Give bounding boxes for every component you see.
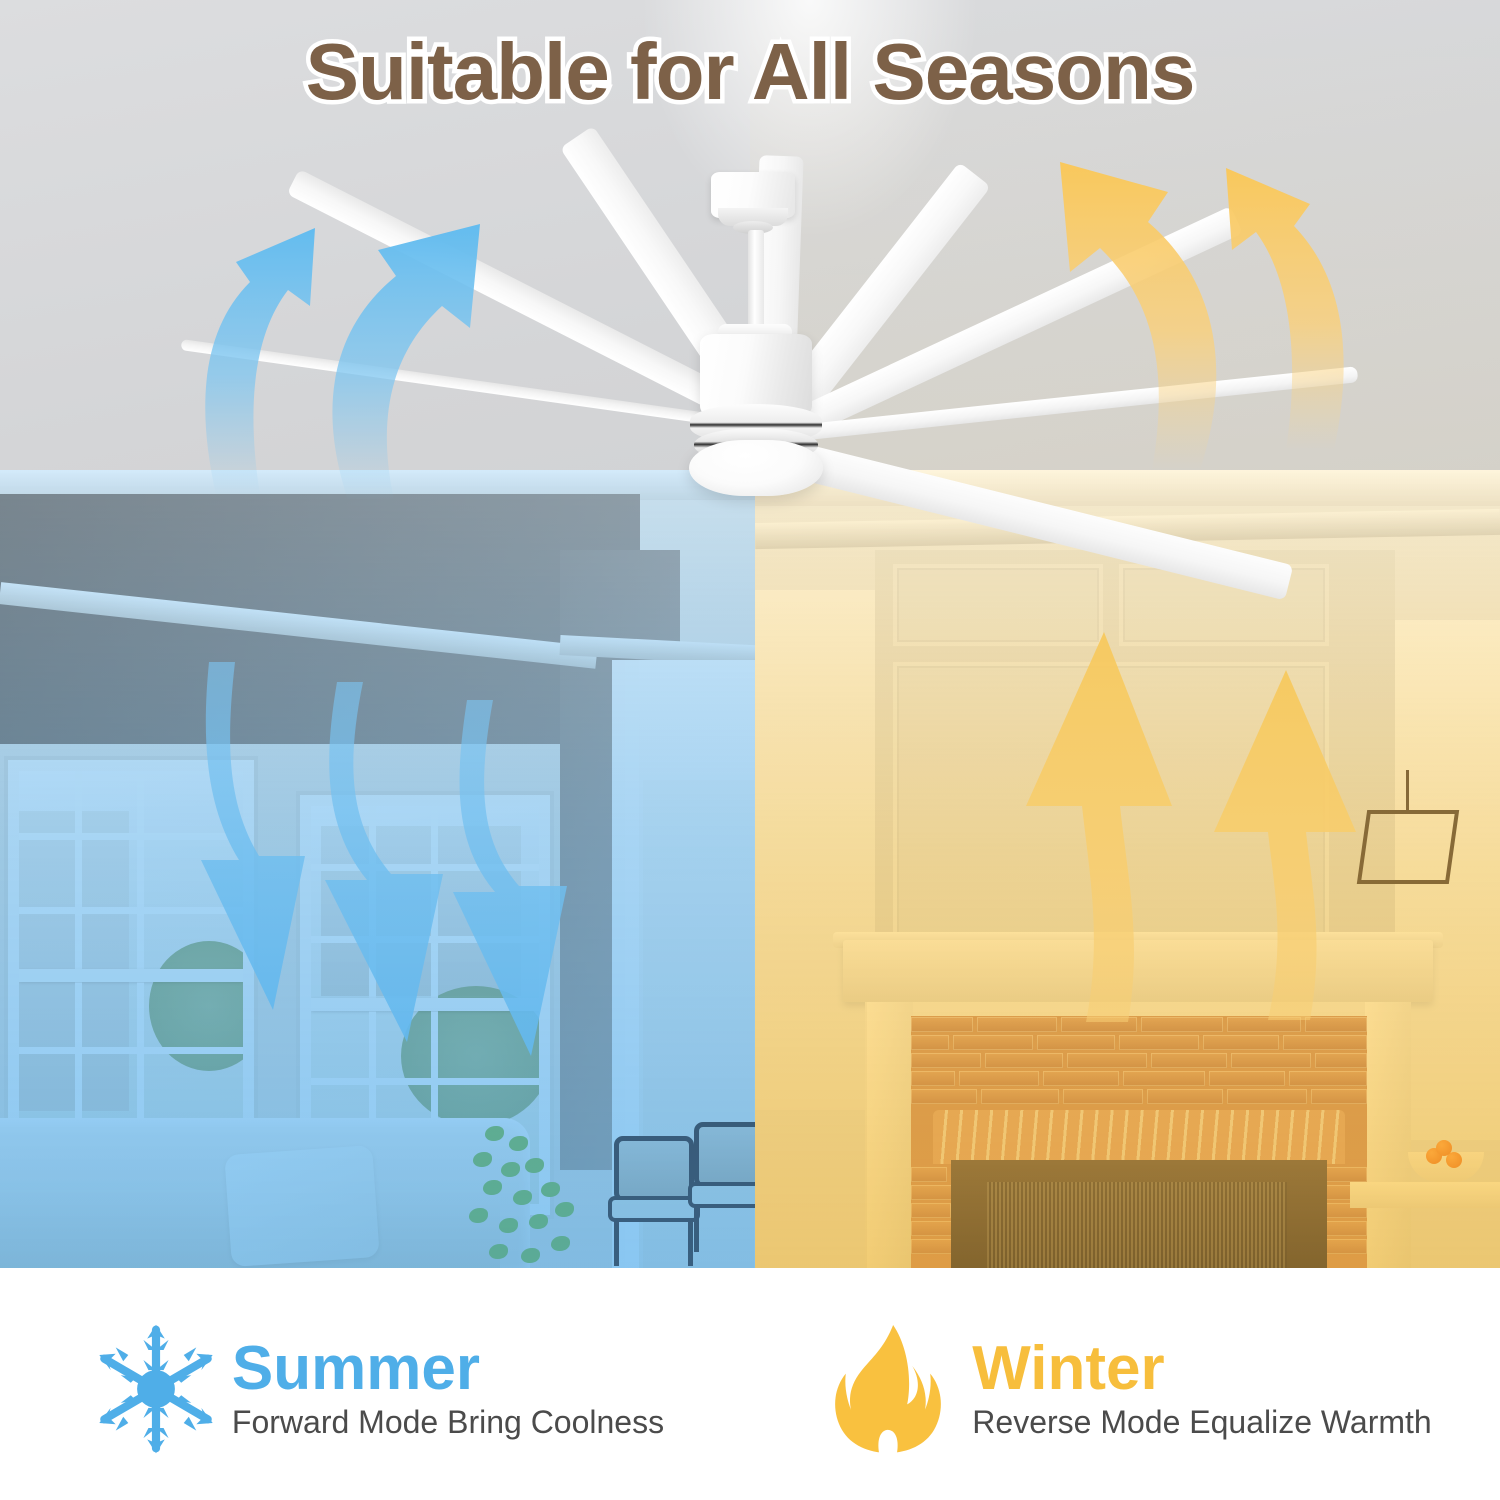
feature-subtitle: Reverse Mode Equalize Warmth	[972, 1403, 1431, 1441]
hero-scene: Suitable for All Seasons	[0, 0, 1500, 1268]
feature-winter: Winter Reverse Mode Equalize Warmth	[750, 1268, 1500, 1500]
feature-title: Winter	[972, 1337, 1431, 1401]
warm-arrow-up	[1214, 670, 1356, 1020]
feature-subtitle: Forward Mode Bring Coolness	[232, 1403, 664, 1441]
cool-ceiling-arrows	[180, 210, 570, 510]
cool-arrow-down	[325, 682, 443, 1042]
feature-summer: Summer Forward Mode Bring Coolness	[0, 1268, 750, 1500]
fan-led-light	[689, 440, 823, 496]
warm-arrow	[1060, 162, 1216, 470]
warm-arrow-up	[1026, 632, 1172, 1022]
feature-bar: Summer Forward Mode Bring Coolness Winte…	[0, 1268, 1500, 1500]
warm-arrow	[1226, 168, 1344, 450]
cool-arrow-down	[453, 700, 567, 1056]
cool-down-arrows	[195, 660, 605, 1090]
cool-arrow	[332, 224, 480, 500]
cool-arrow	[205, 228, 315, 495]
snowflake-icon	[86, 1314, 226, 1464]
feature-title: Summer	[232, 1337, 664, 1401]
infographic-canvas: Suitable for All Seasons	[0, 0, 1500, 1500]
flame-icon	[818, 1314, 958, 1464]
cool-arrow-down	[201, 662, 305, 1010]
warm-ceiling-arrows	[1000, 150, 1360, 480]
fan-downrod	[748, 230, 764, 334]
warm-up-arrows	[1020, 610, 1410, 1030]
page-title: Suitable for All Seasons	[0, 26, 1500, 118]
